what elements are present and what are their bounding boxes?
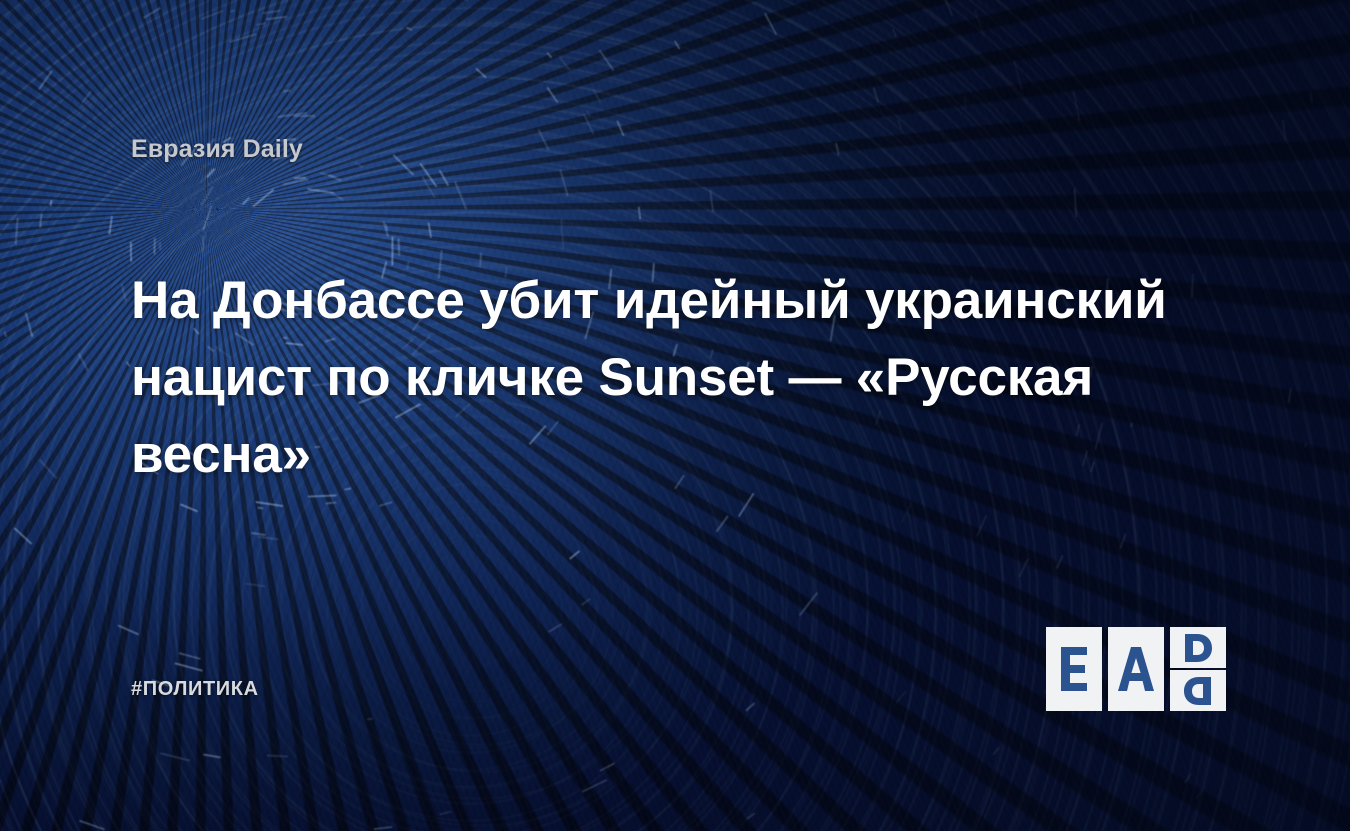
letter-d-icon: [1183, 633, 1213, 663]
letter-d-rotated-icon: [1183, 676, 1213, 706]
logo-tile-d-top: [1170, 627, 1226, 668]
publisher-brand-name: Евразия Daily: [131, 135, 303, 164]
card-content: Евразия Daily На Донбассе убит идейный у…: [0, 0, 1350, 831]
logo-tile-a: [1108, 627, 1164, 711]
letter-e-icon: [1057, 645, 1091, 693]
logo-tile-e: [1046, 627, 1102, 711]
letter-a-icon: [1117, 645, 1155, 693]
category-hashtag[interactable]: #ПОЛИТИКА: [131, 678, 259, 701]
social-share-card: Евразия Daily На Донбассе убит идейный у…: [0, 0, 1350, 831]
headline-title: На Донбассе убит идейный украинский наци…: [131, 262, 1201, 493]
logo-tile-d-stack: [1170, 627, 1226, 711]
eadaily-logo[interactable]: [1046, 627, 1226, 711]
logo-tile-d-bottom: [1170, 670, 1226, 711]
